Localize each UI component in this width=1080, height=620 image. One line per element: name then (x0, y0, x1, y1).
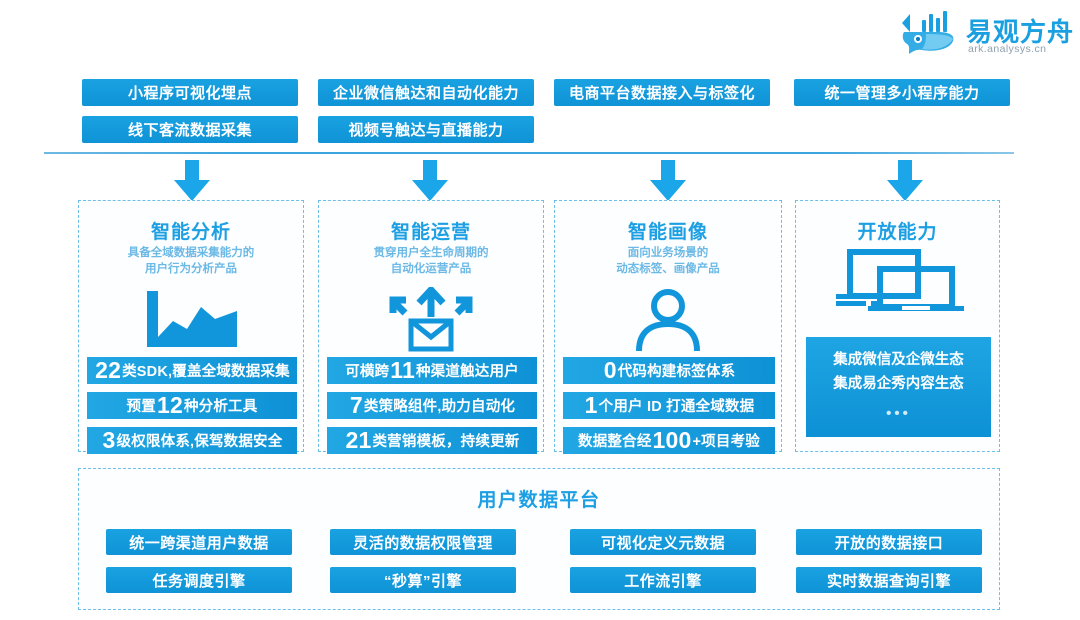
card-subtitle: 面向业务场景的动态标签、画像产品 (555, 245, 781, 277)
openness-line: 集成微信及企微生态 (833, 348, 964, 372)
arrow-down-icon (410, 160, 450, 202)
capability-pill[interactable]: 统一管理多小程序能力 (794, 79, 1010, 106)
stat-suffix: 代码构建标签体系 (618, 360, 736, 381)
stat-bar: 数据整合经100+项目考验 (563, 427, 775, 454)
brand-logo: 易观方舟 ark.analysys.cn (896, 8, 1066, 60)
card-title: 智能分析 (79, 217, 303, 244)
card-title: 智能画像 (555, 217, 781, 244)
stat-number: 11 (389, 359, 416, 382)
capability-pill[interactable]: 视频号触达与直播能力 (318, 116, 534, 143)
stat-suffix: 种分析工具 (184, 395, 258, 416)
stat-bar: 7类策略组件,助力自动化 (327, 392, 537, 419)
openness-summary-box: 集成微信及企微生态集成易企秀内容生态••• (806, 337, 991, 437)
stat-prefix: 可横跨 (345, 360, 389, 381)
stat-bar: 可横跨11种渠道触达用户 (327, 357, 537, 384)
stat-bar: 预置12种分析工具 (87, 392, 297, 419)
openness-ellipsis: ••• (886, 402, 911, 426)
stat-bar: 21类营销模板，持续更新 (327, 427, 537, 454)
card-icon-user-person-icon (555, 287, 781, 353)
card-icon-devices-laptop-icon (796, 243, 999, 321)
arrow-down-operation (410, 160, 450, 202)
openness-line: 集成易企秀内容生态 (833, 372, 964, 396)
card-title: 开放能力 (796, 217, 999, 244)
platform-pill[interactable]: 开放的数据接口 (796, 529, 982, 555)
stat-suffix: 级权限体系,保驾数据安全 (117, 430, 283, 451)
arrow-down-icon (885, 160, 925, 202)
card-subtitle: 具备全域数据采集能力的用户行为分析产品 (79, 245, 303, 277)
card-icon-area-chart-icon (79, 287, 303, 353)
envelope-arrows-icon (381, 287, 481, 353)
stat-suffix: 类策略组件,助力自动化 (364, 395, 515, 416)
stat-bar: 0代码构建标签体系 (563, 357, 775, 384)
stat-prefix: 预置 (127, 395, 156, 416)
platform-pill[interactable]: “秒算”引擎 (330, 567, 516, 593)
platform-pill[interactable]: 统一跨渠道用户数据 (106, 529, 292, 555)
arrow-down-profile (648, 160, 688, 202)
platform-pill[interactable]: 工作流引擎 (570, 567, 756, 593)
card-icon-envelope-arrows-icon (319, 287, 543, 353)
stat-number: 3 (102, 429, 117, 452)
arrow-down-openness (885, 160, 925, 202)
stat-number: 0 (603, 359, 618, 382)
product-card-analysis: 智能分析具备全域数据采集能力的用户行为分析产品 22类SDK,覆盖全域数据采集预… (78, 200, 304, 452)
user-person-icon (630, 287, 706, 353)
arrow-down-analysis (172, 160, 212, 202)
stat-number: 12 (156, 394, 184, 417)
capability-pill[interactable]: 线下客流数据采集 (82, 116, 298, 143)
infographic-canvas: 易观方舟 ark.analysys.cn 小程序可视化埋点企业微信触达和自动化能… (0, 0, 1080, 620)
stat-number: 100 (652, 429, 693, 452)
stat-bar: 22类SDK,覆盖全域数据采集 (87, 357, 297, 384)
stat-suffix: 类SDK,覆盖全域数据采集 (122, 360, 290, 381)
platform-pill[interactable]: 灵活的数据权限管理 (330, 529, 516, 555)
stat-suffix: 种渠道触达用户 (416, 360, 519, 381)
stat-number: 7 (349, 394, 364, 417)
stat-bar: 1个用户 ID 打通全域数据 (563, 392, 775, 419)
arrow-down-icon (172, 160, 212, 202)
capability-pill[interactable]: 企业微信触达和自动化能力 (318, 79, 534, 106)
platform-pill[interactable]: 可视化定义元数据 (570, 529, 756, 555)
product-card-openness: 开放能力 集成微信及企微生态集成易企秀内容生态••• (795, 200, 1000, 452)
stat-bar: 3级权限体系,保驾数据安全 (87, 427, 297, 454)
platform-pill[interactable]: 实时数据查询引擎 (796, 567, 982, 593)
capability-pill[interactable]: 电商平台数据接入与标签化 (554, 79, 770, 106)
stat-number: 22 (94, 359, 122, 382)
brand-site: ark.analysys.cn (968, 43, 1046, 55)
area-chart-icon (143, 289, 239, 351)
stat-suffix: 个用户 ID 打通全域数据 (599, 395, 755, 416)
stat-number: 21 (345, 429, 373, 452)
stat-number: 1 (584, 394, 599, 417)
capability-pill[interactable]: 小程序可视化埋点 (82, 79, 298, 106)
product-card-profile: 智能画像面向业务场景的动态标签、画像产品 0代码构建标签体系1个用户 ID 打通… (554, 200, 782, 452)
stat-prefix: 数据整合经 (578, 430, 652, 451)
platform-title: 用户数据平台 (79, 485, 999, 512)
arrow-down-icon (648, 160, 688, 202)
section-divider (44, 152, 1014, 154)
card-title: 智能运营 (319, 217, 543, 244)
stat-suffix: +项目考验 (693, 430, 760, 451)
product-card-operation: 智能运营贯穿用户全生命周期的自动化运营产品 可横跨11种渠道触达用户7类策略组件… (318, 200, 544, 452)
devices-laptop-icon (818, 249, 978, 315)
stat-suffix: 类营销模板，持续更新 (372, 430, 519, 451)
platform-pill[interactable]: 任务调度引擎 (106, 567, 292, 593)
card-subtitle: 贯穿用户全生命周期的自动化运营产品 (319, 245, 543, 277)
